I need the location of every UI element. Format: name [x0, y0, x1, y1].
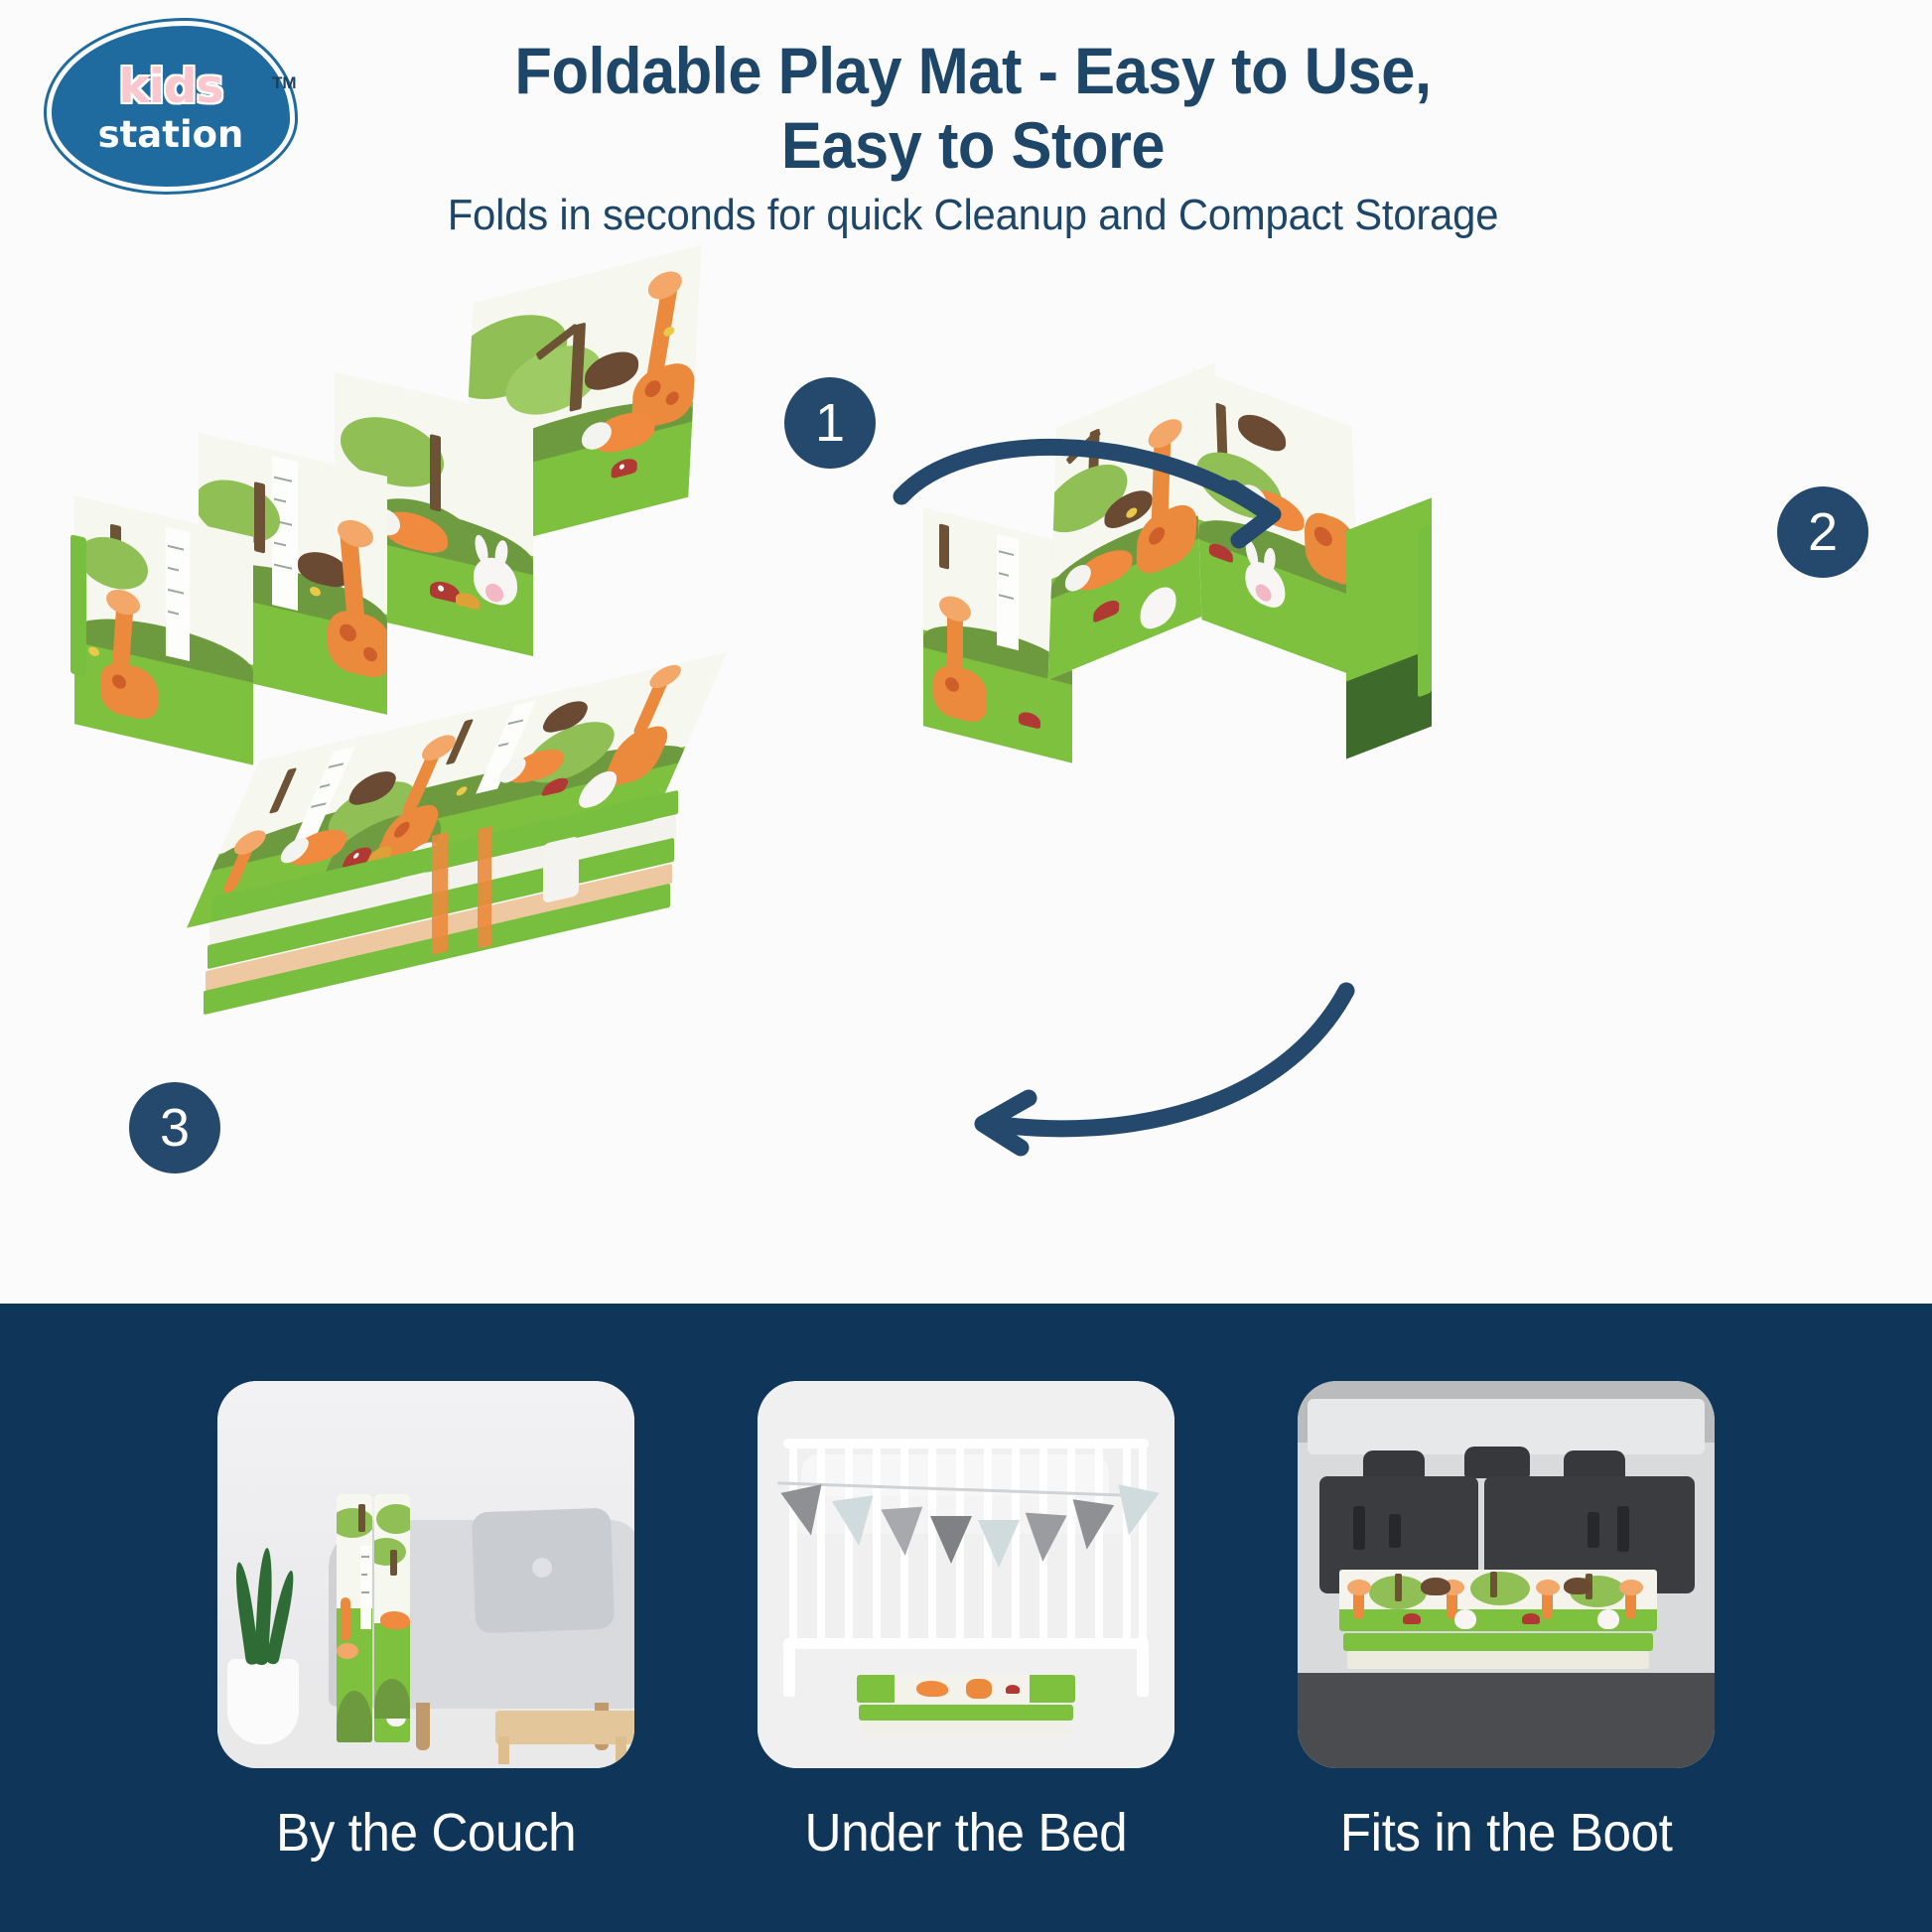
seat-strap-1 — [1353, 1506, 1365, 1550]
mat-stack-bunny — [543, 836, 579, 903]
plant-pot-icon — [227, 1659, 299, 1744]
page-title-line2: Easy to Store — [345, 108, 1601, 183]
logo-text-station: station — [52, 113, 290, 156]
folded-mat-in-boot — [1339, 1570, 1657, 1673]
card-image-couch — [217, 1381, 634, 1768]
mat-stack-accent-2 — [478, 826, 491, 948]
logo-text-kids: kids — [52, 60, 290, 114]
storage-cards-row: By the Couch — [0, 1304, 1932, 1932]
seat-strap-2 — [1389, 1514, 1401, 1548]
step-badge-1: 1 — [784, 377, 876, 469]
card-label-boot: Fits in the Boot — [1340, 1802, 1673, 1863]
storage-card-couch[interactable]: By the Couch — [217, 1381, 634, 1863]
trademark-icon: TM — [272, 73, 297, 93]
seat-strap-4 — [1617, 1506, 1629, 1552]
folded-mat-standing — [337, 1494, 412, 1742]
storage-card-bed[interactable]: Under the Bed — [758, 1381, 1174, 1863]
mat-edge-left — [70, 534, 86, 677]
step-badge-3: 3 — [129, 1082, 220, 1173]
card-label-couch: By the Couch — [276, 1802, 576, 1863]
page-title-line1: Foldable Play Mat - Easy to Use, — [345, 34, 1601, 108]
step-badge-2: 2 — [1777, 486, 1868, 578]
folded-mat-under-crib — [857, 1675, 1075, 1736]
step-1-image-mat-unfolded — [74, 268, 769, 685]
storage-section: By the Couch — [0, 1304, 1932, 1932]
page-title: Foldable Play Mat - Easy to Use, Easy to… — [345, 34, 1601, 182]
header: kids station TM Foldable Play Mat - Easy… — [0, 0, 1932, 298]
mat-edge-right — [1418, 523, 1432, 697]
seat-strap-3 — [1587, 1512, 1599, 1548]
card-image-crib — [758, 1381, 1174, 1768]
step-3-image-mat-stacked — [194, 695, 750, 1033]
storage-card-boot[interactable]: Fits in the Boot — [1298, 1381, 1715, 1863]
brand-logo: kids station TM — [52, 26, 290, 187]
arrow-step1-to-step2 — [884, 437, 1311, 655]
infographic-page: kids station TM Foldable Play Mat - Easy… — [0, 0, 1932, 1932]
arrow-step2-to-step3 — [953, 953, 1380, 1181]
mat-stack-accent-1 — [432, 832, 448, 955]
card-image-boot — [1298, 1381, 1715, 1768]
page-subtitle: Folds in seconds for quick Cleanup and C… — [332, 191, 1614, 240]
card-label-bed: Under the Bed — [805, 1802, 1128, 1863]
